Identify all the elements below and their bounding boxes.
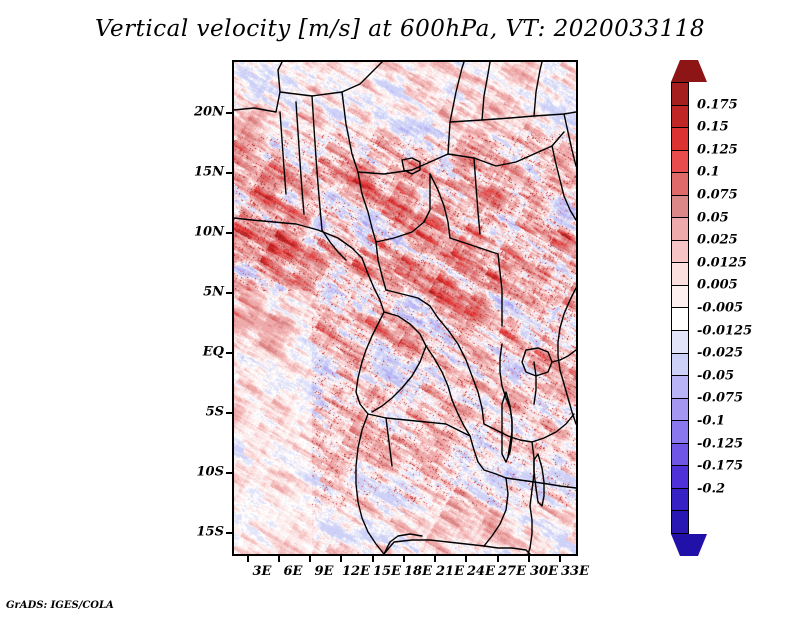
- xtick-label-24E: 24E: [467, 564, 495, 579]
- colorbar-swatch-12: [672, 354, 688, 377]
- colorbar-label-3: 0.1: [697, 165, 720, 180]
- colorbar-label-14: -0.1: [697, 414, 725, 429]
- ytick-5N: [226, 292, 232, 294]
- colorbar-label-1: 0.15: [697, 120, 729, 135]
- footer-credit: GrADS: IGES/COLA: [6, 600, 114, 611]
- xtick-6E: [278, 556, 280, 562]
- xtick-label-33E: 33E: [561, 564, 589, 579]
- colorbar-swatch-0: [672, 83, 688, 106]
- ytick-label-5S: 5S: [188, 405, 224, 420]
- xtick-27E: [497, 556, 499, 562]
- xtick-label-21E: 21E: [436, 564, 464, 579]
- colorbar[interactable]: [671, 60, 689, 556]
- colorbar-swatch-18: [672, 489, 688, 512]
- colorbar-label-6: 0.025: [697, 233, 738, 248]
- colorbar-label-16: -0.175: [697, 459, 743, 474]
- colorbar-swatch-3: [672, 151, 688, 174]
- colorbar-swatch-10: [672, 308, 688, 331]
- map-panel: [232, 60, 578, 556]
- colorbar-swatch-13: [672, 376, 688, 399]
- colorbar-extend-top-arrow: [671, 60, 707, 82]
- ytick-label-10S: 10S: [188, 465, 224, 480]
- colorbar-label-11: -0.025: [697, 346, 743, 361]
- colorbar-swatch-5: [672, 196, 688, 219]
- colorbar-swatch-6: [672, 218, 688, 241]
- ytick-label-20N: 20N: [188, 105, 224, 120]
- xtick-label-6E: 6E: [284, 564, 303, 579]
- xtick-3E: [247, 556, 249, 562]
- colorbar-label-10: -0.0125: [697, 323, 752, 338]
- ytick-5S: [226, 412, 232, 414]
- xtick-label-30E: 30E: [530, 564, 558, 579]
- xtick-label-3E: 3E: [253, 564, 272, 579]
- ytick-15S: [226, 532, 232, 534]
- xtick-label-15E: 15E: [373, 564, 401, 579]
- xtick-label-12E: 12E: [342, 564, 370, 579]
- colorbar-swatch-stack: [671, 82, 689, 534]
- xtick-label-18E: 18E: [404, 564, 432, 579]
- colorbar-label-17: -0.2: [697, 481, 725, 496]
- colorbar-swatch-9: [672, 286, 688, 309]
- colorbar-label-5: 0.05: [697, 210, 729, 225]
- xtick-33E: [559, 556, 561, 562]
- ytick-15N: [226, 172, 232, 174]
- colorbar-extend-bottom-arrow: [671, 534, 707, 556]
- page-title: Vertical velocity [m/s] at 600hPa, VT: 2…: [0, 16, 800, 42]
- xtick-24E: [465, 556, 467, 562]
- colorbar-label-4: 0.075: [697, 188, 738, 203]
- colorbar-label-2: 0.125: [697, 142, 738, 157]
- colorbar-swatch-1: [672, 106, 688, 129]
- colorbar-swatch-4: [672, 173, 688, 196]
- xtick-9E: [309, 556, 311, 562]
- colorbar-swatch-14: [672, 399, 688, 422]
- xtick-15E: [372, 556, 374, 562]
- colorbar-label-12: -0.05: [697, 368, 734, 383]
- xtick-label-27E: 27E: [498, 564, 526, 579]
- colorbar-label-8: 0.005: [697, 278, 738, 293]
- xtick-18E: [403, 556, 405, 562]
- colorbar-label-7: 0.0125: [697, 255, 747, 270]
- ytick-10N: [226, 232, 232, 234]
- xtick-label-9E: 9E: [315, 564, 334, 579]
- colorbar-label-9: -0.005: [697, 301, 743, 316]
- colorbar-swatch-2: [672, 128, 688, 151]
- xtick-12E: [340, 556, 342, 562]
- colorbar-swatch-16: [672, 444, 688, 467]
- ytick-label-15S: 15S: [188, 525, 224, 540]
- colorbar-label-15: -0.125: [697, 436, 743, 451]
- colorbar-swatch-11: [672, 331, 688, 354]
- ytick-label-10N: 10N: [188, 225, 224, 240]
- xtick-21E: [434, 556, 436, 562]
- vertical-velocity-field: [234, 62, 576, 554]
- ytick-10S: [226, 472, 232, 474]
- ytick-label-15N: 15N: [188, 165, 224, 180]
- ytick-label-EQ: EQ: [188, 345, 224, 360]
- xtick-30E: [528, 556, 530, 562]
- map-plot-area[interactable]: [232, 60, 578, 556]
- ytick-label-5N: 5N: [188, 285, 224, 300]
- ytick-EQ: [226, 352, 232, 354]
- colorbar-swatch-17: [672, 466, 688, 489]
- colorbar-label-0: 0.175: [697, 97, 738, 112]
- colorbar-swatch-7: [672, 241, 688, 264]
- colorbar-swatch-15: [672, 421, 688, 444]
- colorbar-label-13: -0.075: [697, 391, 743, 406]
- colorbar-swatch-8: [672, 263, 688, 286]
- ytick-20N: [226, 112, 232, 114]
- colorbar-swatch-19: [672, 511, 688, 533]
